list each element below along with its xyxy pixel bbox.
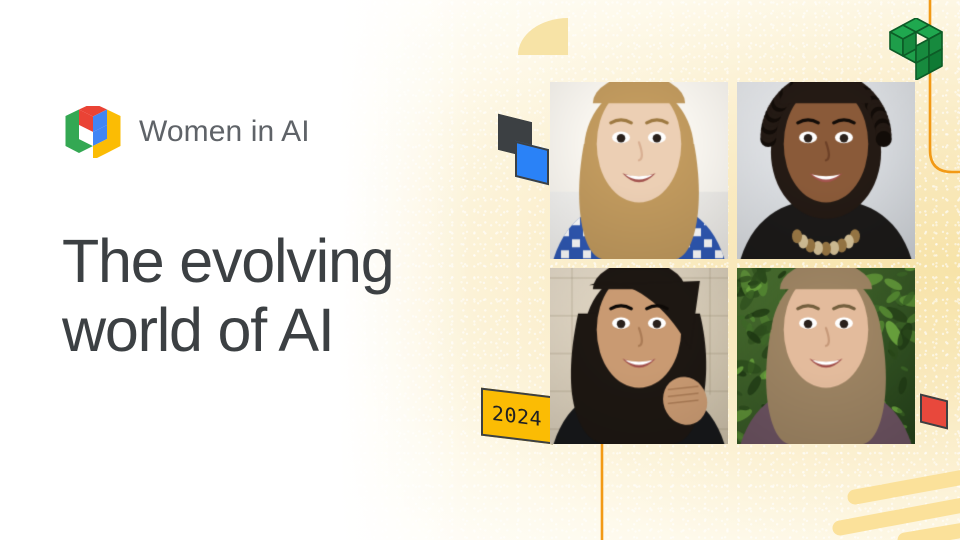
year-badge: 2024 <box>481 392 553 440</box>
page-title: The evolving world of AI <box>62 227 462 365</box>
women-techmakers-cube-logo-icon <box>63 106 123 158</box>
speaker-photo-bottom-right <box>737 268 915 445</box>
slide-canvas: 2024 Women in AI The evolving world of A… <box>0 0 960 540</box>
brand-name: Women in AI <box>139 115 310 149</box>
speaker-photo-top-right <box>737 82 915 259</box>
headline-line-1: The evolving <box>62 227 393 295</box>
headline-line-2: world of AI <box>62 296 462 365</box>
speaker-photo-top-left <box>550 82 728 259</box>
speaker-photo-grid <box>550 82 915 444</box>
speaker-photo-bottom-left <box>550 268 728 445</box>
green-isometric-blocks-icon <box>876 18 956 80</box>
brand-lockup: Women in AI <box>63 106 310 158</box>
year-badge-label: 2024 <box>481 388 553 445</box>
